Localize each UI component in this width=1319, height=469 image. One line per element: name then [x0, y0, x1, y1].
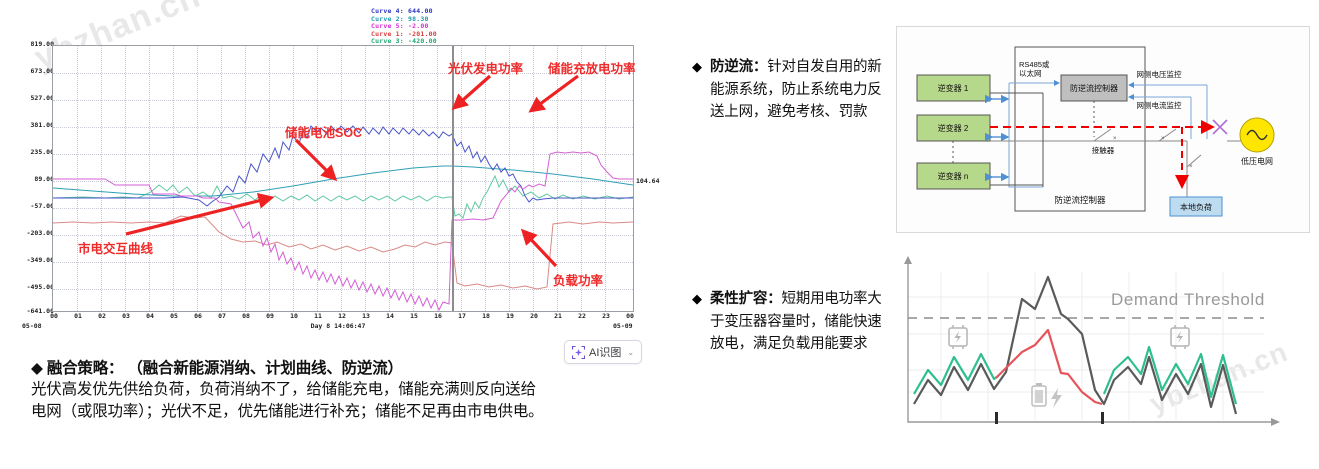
- x-tick-3: 03: [122, 312, 130, 320]
- x-tick-12: 12: [338, 312, 346, 320]
- x-tick-5: 05: [170, 312, 178, 320]
- label-inverter-2: 逆变器 2: [938, 123, 969, 133]
- x-tick-6: 06: [194, 312, 202, 320]
- x-tick-8: 08: [242, 312, 250, 320]
- label-contactor: 接触器: [1092, 145, 1115, 155]
- label-lv-grid: 低压电网: [1241, 156, 1273, 166]
- breaker-mark-1: ×: [1113, 136, 1117, 142]
- y-tick-2: 527.00: [31, 94, 54, 102]
- x-tick-11: 11: [314, 312, 322, 320]
- bullet-anti-backflow: ◆ 防逆流：针对自发自用的新能源系统，防止系统电力反送上网，避免考核、罚款: [692, 56, 884, 124]
- battery-discharge-icon: [1032, 383, 1062, 408]
- chevron-down-icon[interactable]: ⌄: [627, 348, 634, 357]
- x-tick-1: 01: [74, 312, 82, 320]
- bullet-text-2: 柔性扩容：短期用电功率大于变压器容量时，储能快速放电，满足负载用能要求: [710, 288, 884, 356]
- x-tick-18: 18: [482, 312, 490, 320]
- event-tick-2: [1101, 412, 1104, 424]
- label-local-load: 本地负荷: [1180, 202, 1212, 212]
- grid-series-path: [914, 347, 1236, 404]
- x-tick-21: 21: [554, 312, 562, 320]
- y-tick-1: 673.00: [31, 67, 54, 75]
- bullet-heading-1: 防逆流：: [710, 59, 767, 75]
- caption-title: ◆ 融合策略： （融合新能源消纳、计划曲线、防逆流）: [31, 358, 671, 379]
- caption-line-1: 光伏高发优先供给负荷，负荷消纳不了，给储能充电，储能充满则反向送给: [31, 379, 671, 401]
- x-tick-7: 07: [218, 312, 226, 320]
- bullet-heading-2: 柔性扩容：: [710, 291, 782, 307]
- y-axis-labels: 819.00 673.00 527.00 381.00 235.00 89.00…: [6, 40, 54, 312]
- label-controller-box: 防逆流控制器: [1070, 83, 1118, 93]
- x-tick-24: 00: [626, 312, 634, 320]
- chart-legend: Curve 4: 644.00 Curve 2: 98.30 Curve 5: …: [371, 8, 437, 46]
- annotation-load-power: 负载功率: [553, 270, 603, 289]
- x-tick-16: 16: [434, 312, 442, 320]
- x-tick-13: 13: [362, 312, 370, 320]
- diamond-bullet-icon: ◆: [692, 56, 702, 124]
- breaker-mark-2: ×: [1161, 136, 1165, 142]
- demand-threshold-chart: ybzhan.cn: [896, 252, 1308, 462]
- annotation-storage-power: 储能充放电功率: [548, 58, 636, 77]
- annotation-pv-power: 光伏发电功率: [448, 58, 523, 77]
- label-inverter-n: 逆变器 n: [938, 171, 969, 181]
- label-grid-current-monitor: 网侧电流监控: [1137, 100, 1182, 110]
- anti-backflow-diagram: 防逆流控制器 RS485或 以太网 逆变器 1 逆变器 2 逆变器 n: [896, 26, 1310, 233]
- x-tick-2: 02: [98, 312, 106, 320]
- annotation-soc: 储能电池SOC: [285, 122, 362, 141]
- x-tick-19: 19: [506, 312, 514, 320]
- label-grid-voltage-monitor: 网侧电压监控: [1137, 69, 1182, 79]
- curve-lines: [53, 46, 633, 311]
- feature-bullets: ◆ 防逆流：针对自发自用的新能源系统，防止系统电力反送上网，避免考核、罚款 ◆ …: [692, 0, 892, 469]
- energy-curve-panel: ybzhan.cn Curve 4: 644.00 Curve 2: 98.30…: [0, 0, 676, 469]
- cursor-timestamp: Day 8 14:06:47: [0, 322, 676, 330]
- x-tick-17: 17: [458, 312, 466, 320]
- bullet-flexible-capacity: ◆ 柔性扩容：短期用电功率大于变压器容量时，储能快速放电，满足负载用能要求: [692, 288, 884, 356]
- y-tick-9: -495.00: [27, 283, 54, 291]
- right-edge-value: 104.64: [636, 177, 659, 185]
- event-tick-1: [995, 412, 998, 424]
- slide-root: ybzhan.cn Curve 4: 644.00 Curve 2: 98.30…: [0, 0, 1319, 469]
- x-tick-4: 04: [146, 312, 154, 320]
- y-tick-4: 235.00: [31, 148, 54, 156]
- label-bus-line1: RS485或: [1019, 59, 1050, 69]
- label-inverter-1: 逆变器 1: [938, 83, 969, 93]
- charge-icon-right: [1171, 325, 1189, 349]
- x-tick-22: 22: [578, 312, 586, 320]
- y-tick-8: -349.00: [27, 256, 54, 264]
- demand-threshold-label: Demand Threshold: [1111, 290, 1265, 310]
- x-tick-9: 09: [266, 312, 274, 320]
- x-tick-10: 10: [290, 312, 298, 320]
- demand-chart-svg: [896, 252, 1308, 462]
- x-tick-23: 23: [602, 312, 610, 320]
- x-tick-15: 15: [410, 312, 418, 320]
- bullet-text-1: 防逆流：针对自发自用的新能源系统，防止系统电力反送上网，避免考核、罚款: [710, 56, 884, 124]
- x-tick-20: 20: [530, 312, 538, 320]
- diamond-bullet-icon-2: ◆: [692, 288, 702, 356]
- caption-line-2: 电网（或限功率）；光伏不足，优先储能进行补充；储能不足再由市电供电。: [31, 401, 671, 423]
- label-bus-line2: 以太网: [1019, 68, 1042, 78]
- breaker-mark-3: ×: [1189, 164, 1193, 170]
- ai-scan-icon: [572, 346, 585, 359]
- curve-plot-area[interactable]: [52, 45, 634, 312]
- y-tick-6: -57.00: [31, 202, 54, 210]
- y-tick-0: 819.00: [31, 40, 54, 48]
- label-controller-outer: 防逆流控制器: [1054, 195, 1106, 205]
- charge-icon-left: [949, 325, 967, 349]
- x-tick-0: 00: [50, 312, 58, 320]
- y-tick-3: 381.00: [31, 121, 54, 129]
- x-tick-14: 14: [386, 312, 394, 320]
- strategy-caption: ◆ 融合策略： （融合新能源消纳、计划曲线、防逆流） 光伏高发优先供给负荷，负荷…: [31, 358, 671, 422]
- time-cursor[interactable]: [452, 46, 454, 311]
- annotation-grid-curve: 市电交互曲线: [78, 238, 153, 257]
- topology-svg: 防逆流控制器 RS485或 以太网 逆变器 1 逆变器 2 逆变器 n: [897, 27, 1309, 232]
- y-tick-7: -203.00: [27, 229, 54, 237]
- series-curve5-path: [53, 152, 633, 310]
